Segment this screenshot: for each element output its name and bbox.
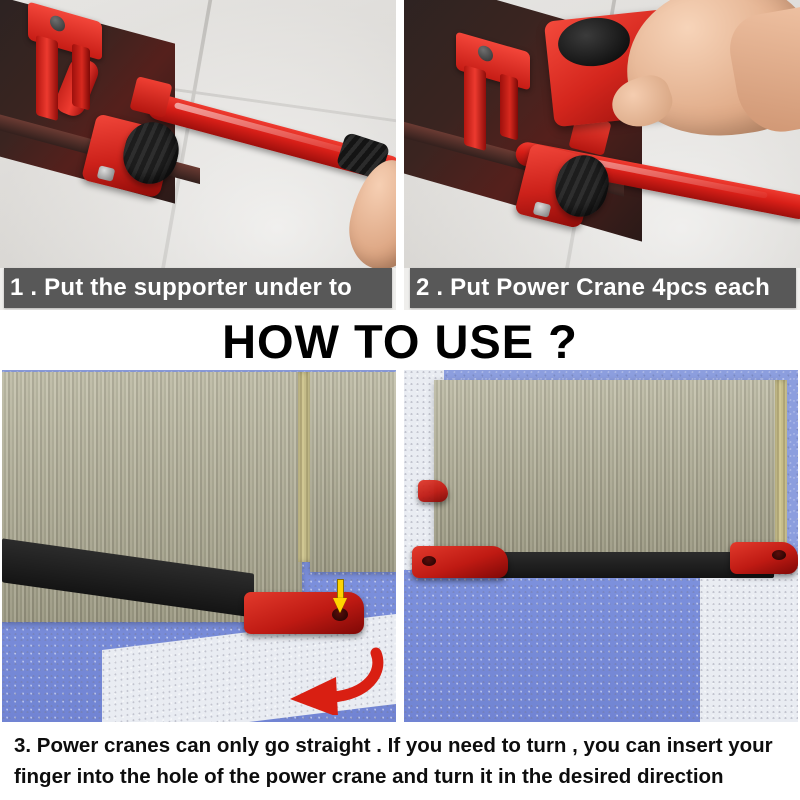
cabinet-side-face xyxy=(310,372,396,572)
step-2-caption-text: 2 . Put Power Crane 4pcs each xyxy=(416,274,770,302)
instruction-line-2: finger into the hole of the power crane … xyxy=(14,765,724,788)
arrow-shaft xyxy=(337,579,344,600)
page-title: HOW TO USE ? xyxy=(0,312,800,370)
top-photo-row: 1 . Put the supporter under to xyxy=(0,0,800,310)
instruction-line-1: 3. Power cranes can only go straight . I… xyxy=(14,734,773,757)
hook-front-leg xyxy=(36,35,58,121)
arrow-head xyxy=(333,598,347,613)
step-3-panel xyxy=(2,370,396,722)
arrow-rotate-left-icon xyxy=(270,645,390,715)
step-2-caption-bar: 2 . Put Power Crane 4pcs each xyxy=(410,268,796,308)
cabinet-side-edge xyxy=(775,380,787,556)
power-crane-slider-rear xyxy=(418,480,448,502)
carpet-blue-tile xyxy=(404,566,704,722)
cabinet-front-face xyxy=(434,380,779,560)
step-1-caption-text: 1 . Put the supporter under to xyxy=(10,274,352,302)
lifter-hook-bracket xyxy=(456,42,530,146)
step-3-instruction-text: 3. Power cranes can only go straight . I… xyxy=(0,726,800,800)
step-2-panel: 2 . Put Power Crane 4pcs each xyxy=(404,0,800,310)
step-4-panel xyxy=(404,370,798,722)
carpet-white-tile xyxy=(700,566,798,722)
power-crane-slider-right xyxy=(730,542,798,574)
bottom-photo-row xyxy=(0,370,800,722)
lifter-hook-bracket xyxy=(28,12,102,116)
power-crane-finger-hole-left xyxy=(422,556,436,566)
arrow-down-icon xyxy=(333,579,347,613)
step-2-photo xyxy=(404,0,800,268)
power-crane-finger-hole-right xyxy=(772,550,786,560)
step-1-caption-bar: 1 . Put the supporter under to xyxy=(4,268,392,308)
hook-back-leg xyxy=(72,43,90,110)
product-instruction-infographic: 1 . Put the supporter under to xyxy=(0,0,800,800)
hook-front-leg xyxy=(464,65,486,151)
step-1-panel: 1 . Put the supporter under to xyxy=(0,0,396,310)
step-1-photo xyxy=(0,0,396,268)
hook-back-leg xyxy=(500,73,518,140)
